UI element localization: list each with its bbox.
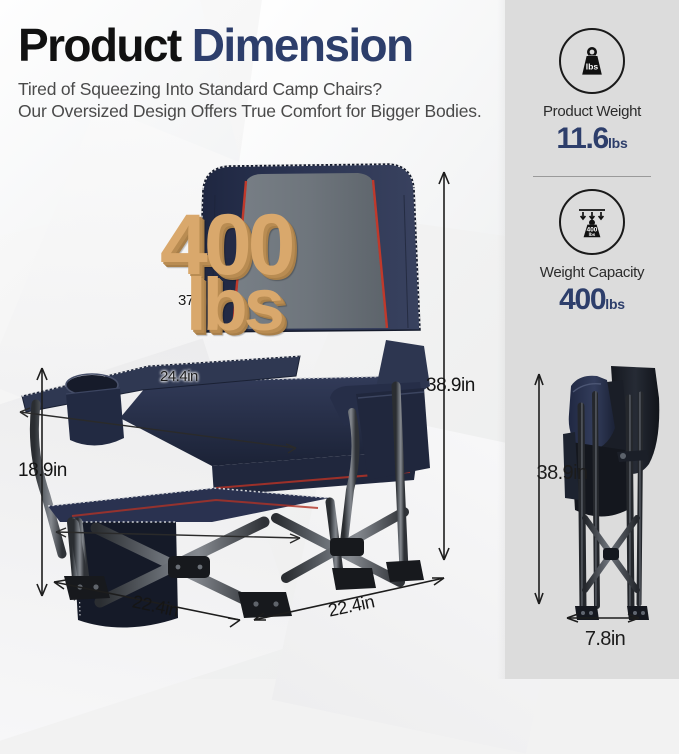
overlay-unit: lbs [186, 275, 292, 336]
folded-height-dimension-line [533, 370, 545, 608]
weight-capacity-value: 400lbs [505, 283, 679, 316]
weight-capacity-number: 400 [559, 283, 605, 316]
product-weight-value: 11.6lbs [505, 122, 679, 155]
folded-width-dimension-line [563, 612, 643, 624]
product-weight-unit: lbs [608, 135, 628, 151]
folded-chair-section: 38.9in 7.8in [505, 352, 679, 652]
product-weight-icon-circle: lbs [559, 28, 625, 94]
chair-front-rail [48, 488, 330, 522]
weight-capacity-label: Weight Capacity [505, 264, 679, 281]
stat-weight-capacity: 400 lbs Weight Capacity 400lbs [505, 189, 679, 316]
weight-capacity-arrows-icon: 400 lbs [571, 201, 613, 243]
folded-chair-illustration [545, 358, 675, 648]
capacity-icon-unit: lbs [589, 232, 596, 237]
weight-lbs-icon: lbs [572, 41, 612, 81]
subtitle-line-1: Tired of Squeezing Into Standard Camp Ch… [18, 78, 488, 100]
header: Product Dimension Tired of Squeezing Int… [18, 22, 488, 123]
stat-divider [533, 176, 651, 177]
folded-height-label: 38.9in [517, 462, 607, 485]
stat-product-weight: lbs Product Weight 11.6lbs [505, 28, 679, 155]
subtitle-line-2: Our Oversized Design Offers True Comfort… [18, 100, 488, 122]
dimension-label-seat-height: 18.9in [18, 460, 67, 482]
dimension-label-overall-height: 38.9in [426, 375, 475, 397]
weight-icon-label: lbs [586, 61, 599, 71]
title-word-dimension: Dimension [192, 19, 413, 71]
weight-capacity-overlay: 400 lbs [160, 210, 292, 335]
subtitle: Tired of Squeezing Into Standard Camp Ch… [18, 78, 488, 123]
dimension-label-seat-width: 24.4in [160, 368, 198, 385]
weight-capacity-unit: lbs [605, 296, 625, 312]
folded-width-label: 7.8in [565, 628, 645, 651]
weight-capacity-icon-circle: 400 lbs [559, 189, 625, 255]
title-word-product: Product [18, 19, 181, 71]
product-weight-number: 11.6 [556, 122, 608, 155]
product-weight-label: Product Weight [505, 103, 679, 120]
page-title: Product Dimension [18, 22, 488, 68]
dimension-line-overall-height [439, 172, 449, 560]
